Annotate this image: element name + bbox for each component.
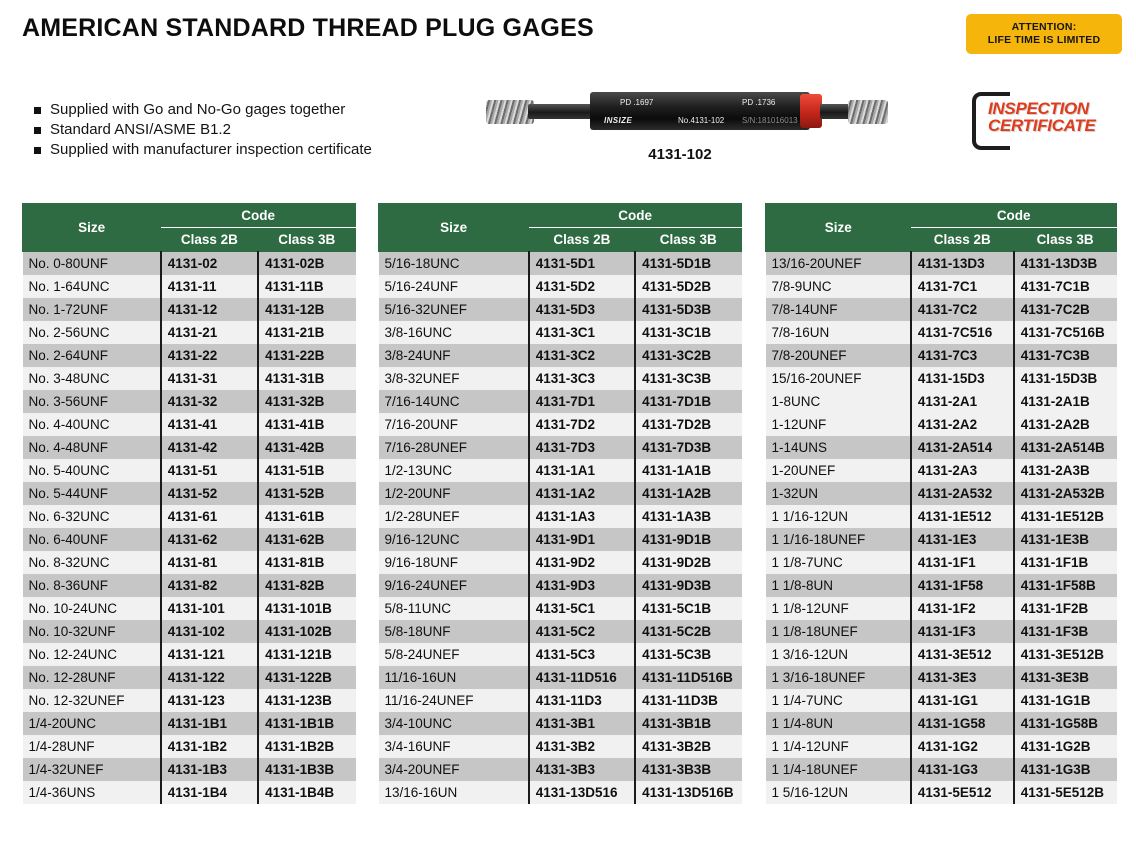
feature-list: Supplied with Go and No-Go gages togethe… <box>34 100 372 160</box>
cell-class-3b-code: 4131-5C3B <box>635 643 741 666</box>
cell-class-2b-code: 4131-1G58 <box>911 712 1014 735</box>
cell-class-3b-code: 4131-3B2B <box>635 735 741 758</box>
table-row[interactable]: 1/4-36UNS4131-1B44131-1B4B <box>23 781 356 804</box>
cell-class-2b-code: 4131-21 <box>161 321 258 344</box>
header-row-top: SizeCode <box>766 204 1117 228</box>
cell-class-3b-code: 4131-5C1B <box>635 597 741 620</box>
cell-size: 5/16-24UNF <box>379 275 529 298</box>
cell-class-3b-code: 4131-1E3B <box>1014 528 1117 551</box>
cell-class-2b-code: 4131-61 <box>161 505 258 528</box>
table-row[interactable]: No. 12-32UNEF4131-1234131-123B <box>23 689 356 712</box>
cell-class-3b-code: 4131-5C2B <box>635 620 741 643</box>
table-header: SizeCodeClass 2BClass 3B <box>766 204 1117 252</box>
cell-class-2b-code: 4131-5C3 <box>529 643 635 666</box>
cell-class-2b-code: 4131-9D1 <box>529 528 635 551</box>
table-row[interactable]: 1 1/8-18UNEF4131-1F34131-1F3B <box>766 620 1117 643</box>
cell-size: 1 3/16-18UNEF <box>766 666 911 689</box>
cell-class-3b-code: 4131-5D3B <box>635 298 741 321</box>
cell-class-3b-code: 4131-3B3B <box>635 758 741 781</box>
cell-size: 1-12UNF <box>766 413 911 436</box>
cell-class-3b-code: 4131-3C3B <box>635 367 741 390</box>
cell-class-2b-code: 4131-51 <box>161 459 258 482</box>
page-title: AMERICAN STANDARD THREAD PLUG GAGES <box>22 14 594 43</box>
table-row[interactable]: 11/16-16UN4131-11D5164131-11D516B <box>379 666 742 689</box>
table-row[interactable]: 7/8-14UNF4131-7C24131-7C2B <box>766 298 1117 321</box>
table-row[interactable]: No. 5-44UNF4131-524131-52B <box>23 482 356 505</box>
cell-class-2b-code: 4131-102 <box>161 620 258 643</box>
table-row[interactable]: 1-8UNC4131-2A14131-2A1B <box>766 390 1117 413</box>
cell-class-3b-code: 4131-122B <box>258 666 355 689</box>
table-row[interactable]: No. 1-64UNC4131-114131-11B <box>23 275 356 298</box>
cell-size: No. 8-32UNC <box>23 551 161 574</box>
cell-size: 3/4-20UNEF <box>379 758 529 781</box>
cell-class-3b-code: 4131-12B <box>258 298 355 321</box>
table-row[interactable]: 9/16-18UNF4131-9D24131-9D2B <box>379 551 742 574</box>
cell-class-3b-code: 4131-7C1B <box>1014 275 1117 298</box>
cell-class-3b-code: 4131-9D1B <box>635 528 741 551</box>
cell-class-2b-code: 4131-1E512 <box>911 505 1014 528</box>
cell-size: No. 12-28UNF <box>23 666 161 689</box>
cell-class-3b-code: 4131-1G1B <box>1014 689 1117 712</box>
cell-class-3b-code: 4131-7C516B <box>1014 321 1117 344</box>
table-row[interactable]: 9/16-24UNEF4131-9D34131-9D3B <box>379 574 742 597</box>
attention-badge: ATTENTION: LIFE TIME IS LIMITED <box>966 14 1122 54</box>
cell-class-3b-code: 4131-5E512B <box>1014 781 1117 804</box>
table-row[interactable]: 1-12UNF4131-2A24131-2A2B <box>766 413 1117 436</box>
table-row[interactable]: No. 4-40UNC4131-414131-41B <box>23 413 356 436</box>
cell-class-2b-code: 4131-31 <box>161 367 258 390</box>
cell-class-3b-code: 4131-1G2B <box>1014 735 1117 758</box>
cell-class-2b-code: 4131-11 <box>161 275 258 298</box>
cell-size: No. 6-40UNF <box>23 528 161 551</box>
cell-size: No. 10-24UNC <box>23 597 161 620</box>
cell-class-2b-code: 4131-7C2 <box>911 298 1014 321</box>
table-row[interactable]: 1/2-28UNEF4131-1A34131-1A3B <box>379 505 742 528</box>
cell-class-3b-code: 4131-42B <box>258 436 355 459</box>
cell-class-2b-code: 4131-3B3 <box>529 758 635 781</box>
cell-size: 9/16-12UNC <box>379 528 529 551</box>
cell-size: 1/4-28UNF <box>23 735 161 758</box>
cell-class-3b-code: 4131-7D1B <box>635 390 741 413</box>
column-header-code-group: Code <box>161 204 356 228</box>
table-row[interactable]: No. 6-32UNC4131-614131-61B <box>23 505 356 528</box>
column-header-class-2b: Class 2B <box>161 228 258 252</box>
table-row[interactable]: No. 3-56UNF4131-324131-32B <box>23 390 356 413</box>
cell-class-2b-code: 4131-11D3 <box>529 689 635 712</box>
cell-size: 1 3/16-12UN <box>766 643 911 666</box>
cell-class-2b-code: 4131-1B4 <box>161 781 258 804</box>
certificate-text: INSPECTION CERTIFICATE <box>988 100 1096 134</box>
cell-size: 5/8-24UNEF <box>379 643 529 666</box>
table-row[interactable]: No. 3-48UNC4131-314131-31B <box>23 367 356 390</box>
table-row[interactable]: 1 1/4-8UN4131-1G584131-1G58B <box>766 712 1117 735</box>
gage-collar <box>800 94 822 128</box>
feature-text: Supplied with Go and No-Go gages togethe… <box>50 101 345 118</box>
column-header-class-3b: Class 3B <box>635 228 741 252</box>
table-row[interactable]: 1 1/8-12UNF4131-1F24131-1F2B <box>766 597 1117 620</box>
bullet-square-icon <box>34 127 41 134</box>
table-row[interactable]: No. 12-28UNF4131-1224131-122B <box>23 666 356 689</box>
header-row-top: SizeCode <box>379 204 742 228</box>
cell-size: 1-32UN <box>766 482 911 505</box>
cell-class-2b-code: 4131-1A3 <box>529 505 635 528</box>
cell-class-2b-code: 4131-62 <box>161 528 258 551</box>
table-row[interactable]: 13/16-20UNEF4131-13D34131-13D3B <box>766 252 1117 276</box>
attention-line-2: LIFE TIME IS LIMITED <box>988 34 1101 47</box>
cell-class-3b-code: 4131-21B <box>258 321 355 344</box>
table-row[interactable]: No. 0-80UNF4131-024131-02B <box>23 252 356 276</box>
cell-class-3b-code: 4131-2A514B <box>1014 436 1117 459</box>
cell-class-3b-code: 4131-1F58B <box>1014 574 1117 597</box>
table-row[interactable]: 7/8-9UNC4131-7C14131-7C1B <box>766 275 1117 298</box>
cell-class-2b-code: 4131-1B1 <box>161 712 258 735</box>
table-row[interactable]: 1-20UNEF4131-2A34131-2A3B <box>766 459 1117 482</box>
cell-size: 3/8-16UNC <box>379 321 529 344</box>
table-row[interactable]: 7/8-20UNEF4131-7C34131-7C3B <box>766 344 1117 367</box>
table-row[interactable]: 5/8-18UNF4131-5C24131-5C2B <box>379 620 742 643</box>
cell-class-2b-code: 4131-13D516 <box>529 781 635 804</box>
cell-size: 7/16-20UNF <box>379 413 529 436</box>
cell-class-2b-code: 4131-2A2 <box>911 413 1014 436</box>
cell-class-2b-code: 4131-7C1 <box>911 275 1014 298</box>
cell-class-3b-code: 4131-52B <box>258 482 355 505</box>
cell-class-2b-code: 4131-3E512 <box>911 643 1014 666</box>
table-row[interactable]: 3/4-10UNC4131-3B14131-3B1B <box>379 712 742 735</box>
column-header-class-3b: Class 3B <box>1014 228 1117 252</box>
cell-class-2b-code: 4131-2A514 <box>911 436 1014 459</box>
cell-class-3b-code: 4131-1A1B <box>635 459 741 482</box>
cell-class-2b-code: 4131-5C1 <box>529 597 635 620</box>
cell-class-2b-code: 4131-7C516 <box>911 321 1014 344</box>
cell-size: 5/16-32UNEF <box>379 298 529 321</box>
cell-size: 13/16-16UN <box>379 781 529 804</box>
table-row[interactable]: 7/16-14UNC4131-7D14131-7D1B <box>379 390 742 413</box>
bullet-square-icon <box>34 147 41 154</box>
cell-class-3b-code: 4131-1F2B <box>1014 597 1117 620</box>
column-header-class-2b: Class 2B <box>911 228 1014 252</box>
cell-class-2b-code: 4131-42 <box>161 436 258 459</box>
cell-class-3b-code: 4131-11D516B <box>635 666 741 689</box>
cell-class-2b-code: 4131-1B3 <box>161 758 258 781</box>
table-row[interactable]: No. 10-24UNC4131-1014131-101B <box>23 597 356 620</box>
cell-size: No. 3-56UNF <box>23 390 161 413</box>
column-header-code-group: Code <box>911 204 1117 228</box>
table-row[interactable]: 1-14UNS4131-2A5144131-2A514B <box>766 436 1117 459</box>
cell-class-3b-code: 4131-2A3B <box>1014 459 1117 482</box>
bullet-square-icon <box>34 107 41 114</box>
table-row[interactable]: 1 1/16-12UN4131-1E5124131-1E512B <box>766 505 1117 528</box>
cell-size: No. 1-72UNF <box>23 298 161 321</box>
table-row[interactable]: 7/8-16UN4131-7C5164131-7C516B <box>766 321 1117 344</box>
cell-class-2b-code: 4131-9D3 <box>529 574 635 597</box>
cell-class-3b-code: 4131-82B <box>258 574 355 597</box>
table-row[interactable]: 1 5/16-12UN4131-5E5124131-5E512B <box>766 781 1117 804</box>
cell-size: No. 6-32UNC <box>23 505 161 528</box>
cell-size: No. 12-24UNC <box>23 643 161 666</box>
brand-marking: INSIZE <box>604 116 632 125</box>
gage-table-3: SizeCodeClass 2BClass 3B13/16-20UNEF4131… <box>765 203 1117 804</box>
cell-class-2b-code: 4131-3C2 <box>529 344 635 367</box>
table-row[interactable]: No. 2-56UNC4131-214131-21B <box>23 321 356 344</box>
header-row-top: SizeCode <box>23 204 356 228</box>
cell-class-2b-code: 4131-02 <box>161 252 258 276</box>
cell-class-3b-code: 4131-5D2B <box>635 275 741 298</box>
cell-class-2b-code: 4131-1G1 <box>911 689 1014 712</box>
table-row[interactable]: 5/16-24UNF4131-5D24131-5D2B <box>379 275 742 298</box>
inspection-certificate-badge: INSPECTION CERTIFICATE <box>968 88 1118 150</box>
cell-class-3b-code: 4131-22B <box>258 344 355 367</box>
table-row[interactable]: 5/16-32UNEF4131-5D34131-5D3B <box>379 298 742 321</box>
cell-class-2b-code: 4131-12 <box>161 298 258 321</box>
cell-size: 1 1/4-8UN <box>766 712 911 735</box>
table-row[interactable]: No. 8-32UNC4131-814131-81B <box>23 551 356 574</box>
cell-size: 7/8-16UN <box>766 321 911 344</box>
cell-class-3b-code: 4131-3C2B <box>635 344 741 367</box>
cell-class-3b-code: 4131-61B <box>258 505 355 528</box>
table-row[interactable]: 1 1/16-18UNEF4131-1E34131-1E3B <box>766 528 1117 551</box>
cell-class-3b-code: 4131-1B1B <box>258 712 355 735</box>
cell-class-2b-code: 4131-13D3 <box>911 252 1014 276</box>
table-row[interactable]: No. 6-40UNF4131-624131-62B <box>23 528 356 551</box>
table-row[interactable]: 5/8-24UNEF4131-5C34131-5C3B <box>379 643 742 666</box>
cell-class-2b-code: 4131-5E512 <box>911 781 1014 804</box>
cell-class-2b-code: 4131-5D2 <box>529 275 635 298</box>
cell-size: 1 1/8-12UNF <box>766 597 911 620</box>
cell-class-2b-code: 4131-123 <box>161 689 258 712</box>
cell-size: 5/8-18UNF <box>379 620 529 643</box>
cell-class-2b-code: 4131-5D3 <box>529 298 635 321</box>
table-row[interactable]: 3/8-24UNF4131-3C24131-3C2B <box>379 344 742 367</box>
cell-size: 1-14UNS <box>766 436 911 459</box>
table-row[interactable]: 1/2-20UNF4131-1A24131-1A2B <box>379 482 742 505</box>
table-body: 5/16-18UNC4131-5D14131-5D1B5/16-24UNF413… <box>379 252 742 805</box>
cell-size: 7/8-14UNF <box>766 298 911 321</box>
cell-size: No. 0-80UNF <box>23 252 161 276</box>
cell-class-3b-code: 4131-121B <box>258 643 355 666</box>
cell-class-2b-code: 4131-15D3 <box>911 367 1014 390</box>
cell-class-3b-code: 4131-1B3B <box>258 758 355 781</box>
cell-size: 1/2-28UNEF <box>379 505 529 528</box>
table-row[interactable]: No. 8-36UNF4131-824131-82B <box>23 574 356 597</box>
table-row[interactable]: 15/16-20UNEF4131-15D34131-15D3B <box>766 367 1117 390</box>
cell-class-3b-code: 4131-11D3B <box>635 689 741 712</box>
table-row[interactable]: 3/4-16UNF4131-3B24131-3B2B <box>379 735 742 758</box>
table-row[interactable]: 11/16-24UNEF4131-11D34131-11D3B <box>379 689 742 712</box>
cell-class-3b-code: 4131-13D3B <box>1014 252 1117 276</box>
cell-size: 15/16-20UNEF <box>766 367 911 390</box>
cell-class-3b-code: 4131-2A532B <box>1014 482 1117 505</box>
table-row[interactable]: 7/16-28UNEF4131-7D34131-7D3B <box>379 436 742 459</box>
table-row[interactable]: 1/4-28UNF4131-1B24131-1B2B <box>23 735 356 758</box>
column-header-class-3b: Class 3B <box>258 228 355 252</box>
cell-class-3b-code: 4131-51B <box>258 459 355 482</box>
table-row[interactable]: 1 1/4-12UNF4131-1G24131-1G2B <box>766 735 1117 758</box>
cell-class-3b-code: 4131-32B <box>258 390 355 413</box>
cell-class-2b-code: 4131-82 <box>161 574 258 597</box>
table-row[interactable]: No. 5-40UNC4131-514131-51B <box>23 459 356 482</box>
cell-size: 5/16-18UNC <box>379 252 529 276</box>
pd-left-marking: PD .1697 <box>620 98 653 107</box>
cell-class-2b-code: 4131-5C2 <box>529 620 635 643</box>
table-row[interactable]: No. 10-32UNF4131-1024131-102B <box>23 620 356 643</box>
cell-size: No. 8-36UNF <box>23 574 161 597</box>
cell-class-3b-code: 4131-1A2B <box>635 482 741 505</box>
pd-right-marking: PD .1736 <box>742 98 775 107</box>
cell-size: 9/16-18UNF <box>379 551 529 574</box>
cell-class-2b-code: 4131-1E3 <box>911 528 1014 551</box>
cell-size: 3/8-32UNEF <box>379 367 529 390</box>
column-header-class-2b: Class 2B <box>529 228 635 252</box>
feature-item: Supplied with Go and No-Go gages togethe… <box>34 100 372 120</box>
cell-class-2b-code: 4131-5D1 <box>529 252 635 276</box>
cell-class-3b-code: 4131-81B <box>258 551 355 574</box>
cell-class-2b-code: 4131-1F58 <box>911 574 1014 597</box>
column-header-size: Size <box>379 204 529 252</box>
cell-class-3b-code: 4131-41B <box>258 413 355 436</box>
cell-size: 7/16-14UNC <box>379 390 529 413</box>
cell-size: 1/4-36UNS <box>23 781 161 804</box>
cell-class-2b-code: 4131-22 <box>161 344 258 367</box>
table-row[interactable]: 3/4-20UNEF4131-3B34131-3B3B <box>379 758 742 781</box>
cell-class-2b-code: 4131-3B2 <box>529 735 635 758</box>
cell-class-2b-code: 4131-1F1 <box>911 551 1014 574</box>
table-row[interactable]: 3/8-32UNEF4131-3C34131-3C3B <box>379 367 742 390</box>
gage-number-marking: No.4131-102 <box>678 116 724 125</box>
cell-class-2b-code: 4131-3C1 <box>529 321 635 344</box>
product-code-caption: 4131-102 <box>470 146 890 163</box>
table-row[interactable]: No. 1-72UNF4131-124131-12B <box>23 298 356 321</box>
table-row[interactable]: 1/4-32UNEF4131-1B34131-1B3B <box>23 758 356 781</box>
cell-class-2b-code: 4131-2A1 <box>911 390 1014 413</box>
cell-class-3b-code: 4131-15D3B <box>1014 367 1117 390</box>
cell-class-3b-code: 4131-62B <box>258 528 355 551</box>
shaft-left <box>528 104 594 119</box>
cell-class-3b-code: 4131-11B <box>258 275 355 298</box>
cell-size: 7/8-9UNC <box>766 275 911 298</box>
table-row[interactable]: No. 2-64UNF4131-224131-22B <box>23 344 356 367</box>
cell-class-3b-code: 4131-1B4B <box>258 781 355 804</box>
table-row[interactable]: 1/2-13UNC4131-1A14131-1A1B <box>379 459 742 482</box>
table-row[interactable]: 3/8-16UNC4131-3C14131-3C1B <box>379 321 742 344</box>
certificate-line-2: CERTIFICATE <box>988 117 1096 134</box>
cell-class-2b-code: 4131-121 <box>161 643 258 666</box>
thread-right-icon <box>848 100 888 124</box>
table-row[interactable]: 13/16-16UN4131-13D5164131-13D516B <box>379 781 742 804</box>
gage-table-2: SizeCodeClass 2BClass 3B5/16-18UNC4131-5… <box>378 203 742 804</box>
cell-class-3b-code: 4131-02B <box>258 252 355 276</box>
cell-class-3b-code: 4131-101B <box>258 597 355 620</box>
table-row[interactable]: 1 1/8-8UN4131-1F584131-1F58B <box>766 574 1117 597</box>
cell-size: No. 2-64UNF <box>23 344 161 367</box>
cell-size: 1-8UNC <box>766 390 911 413</box>
table-row[interactable]: 1 3/16-12UN4131-3E5124131-3E512B <box>766 643 1117 666</box>
table-row[interactable]: 5/8-11UNC4131-5C14131-5C1B <box>379 597 742 620</box>
cell-size: 1 1/4-7UNC <box>766 689 911 712</box>
cell-size: No. 4-40UNC <box>23 413 161 436</box>
table-row[interactable]: No. 12-24UNC4131-1214131-121B <box>23 643 356 666</box>
cell-size: 1 1/4-18UNEF <box>766 758 911 781</box>
cell-size: 1/4-32UNEF <box>23 758 161 781</box>
cell-class-3b-code: 4131-3B1B <box>635 712 741 735</box>
table-body: 13/16-20UNEF4131-13D34131-13D3B7/8-9UNC4… <box>766 252 1117 805</box>
cell-class-2b-code: 4131-7D2 <box>529 413 635 436</box>
cell-size: No. 3-48UNC <box>23 367 161 390</box>
table-row[interactable]: 1 1/4-7UNC4131-1G14131-1G1B <box>766 689 1117 712</box>
table-row[interactable]: 9/16-12UNC4131-9D14131-9D1B <box>379 528 742 551</box>
cell-size: 1/2-20UNF <box>379 482 529 505</box>
cell-size: 1 1/4-12UNF <box>766 735 911 758</box>
cell-class-3b-code: 4131-13D516B <box>635 781 741 804</box>
cell-class-2b-code: 4131-52 <box>161 482 258 505</box>
gage-table-1: SizeCodeClass 2BClass 3BNo. 0-80UNF4131-… <box>22 203 356 804</box>
column-header-size: Size <box>23 204 161 252</box>
cell-class-2b-code: 4131-11D516 <box>529 666 635 689</box>
cell-class-2b-code: 4131-1F3 <box>911 620 1014 643</box>
table-row[interactable]: 1-32UN4131-2A5324131-2A532B <box>766 482 1117 505</box>
feature-text: Standard ANSI/ASME B1.2 <box>50 121 231 138</box>
cell-class-2b-code: 4131-2A532 <box>911 482 1014 505</box>
cell-size: No. 12-32UNEF <box>23 689 161 712</box>
cell-class-2b-code: 4131-1A1 <box>529 459 635 482</box>
cell-size: 1/4-20UNC <box>23 712 161 735</box>
table-row[interactable]: No. 4-48UNF4131-424131-42B <box>23 436 356 459</box>
cell-size: 1 1/16-12UN <box>766 505 911 528</box>
table-row[interactable]: 1 1/8-7UNC4131-1F14131-1F1B <box>766 551 1117 574</box>
cell-class-2b-code: 4131-1A2 <box>529 482 635 505</box>
feature-text: Supplied with manufacturer inspection ce… <box>50 141 372 158</box>
column-header-code-group: Code <box>529 204 742 228</box>
cell-size: No. 10-32UNF <box>23 620 161 643</box>
cell-class-3b-code: 4131-1A3B <box>635 505 741 528</box>
cell-size: 1-20UNEF <box>766 459 911 482</box>
table-row[interactable]: 5/16-18UNC4131-5D14131-5D1B <box>379 252 742 276</box>
cell-size: 1 1/8-18UNEF <box>766 620 911 643</box>
cell-class-2b-code: 4131-122 <box>161 666 258 689</box>
cell-class-2b-code: 4131-3B1 <box>529 712 635 735</box>
cell-size: No. 1-64UNC <box>23 275 161 298</box>
cell-class-3b-code: 4131-9D3B <box>635 574 741 597</box>
cell-size: 3/4-10UNC <box>379 712 529 735</box>
cell-class-3b-code: 4131-102B <box>258 620 355 643</box>
cell-class-2b-code: 4131-3C3 <box>529 367 635 390</box>
cell-size: 1 1/16-18UNEF <box>766 528 911 551</box>
cell-size: 11/16-24UNEF <box>379 689 529 712</box>
table-body: No. 0-80UNF4131-024131-02BNo. 1-64UNC413… <box>23 252 356 805</box>
table-header: SizeCodeClass 2BClass 3B <box>379 204 742 252</box>
cell-size: 1/2-13UNC <box>379 459 529 482</box>
cell-size: 9/16-24UNEF <box>379 574 529 597</box>
table-row[interactable]: 1/4-20UNC4131-1B14131-1B1B <box>23 712 356 735</box>
cell-class-2b-code: 4131-7D3 <box>529 436 635 459</box>
table-row[interactable]: 1 1/4-18UNEF4131-1G34131-1G3B <box>766 758 1117 781</box>
cell-class-3b-code: 4131-3E512B <box>1014 643 1117 666</box>
column-header-size: Size <box>766 204 911 252</box>
table-row[interactable]: 7/16-20UNF4131-7D24131-7D2B <box>379 413 742 436</box>
feature-item: Standard ANSI/ASME B1.2 <box>34 120 372 140</box>
table-row[interactable]: 1 3/16-18UNEF4131-3E34131-3E3B <box>766 666 1117 689</box>
cell-class-3b-code: 4131-1E512B <box>1014 505 1117 528</box>
cell-size: 1 5/16-12UN <box>766 781 911 804</box>
cell-class-3b-code: 4131-5D1B <box>635 252 741 276</box>
certificate-line-1: INSPECTION <box>988 100 1096 117</box>
cell-size: No. 5-44UNF <box>23 482 161 505</box>
cell-class-3b-code: 4131-1F1B <box>1014 551 1117 574</box>
cell-size: 7/8-20UNEF <box>766 344 911 367</box>
cell-class-3b-code: 4131-3C1B <box>635 321 741 344</box>
cell-class-3b-code: 4131-1G58B <box>1014 712 1117 735</box>
cell-size: 3/8-24UNF <box>379 344 529 367</box>
cell-size: No. 4-48UNF <box>23 436 161 459</box>
